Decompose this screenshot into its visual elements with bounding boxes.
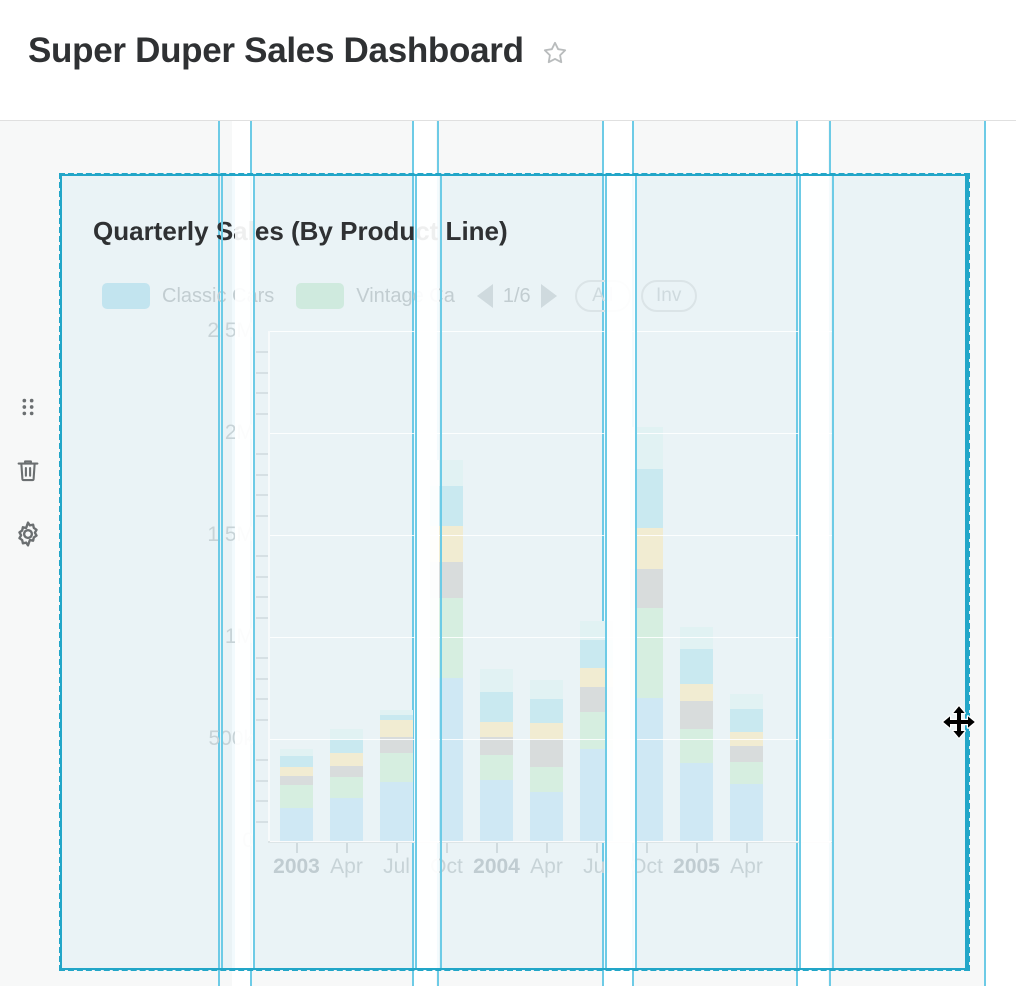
gridline (270, 637, 832, 638)
y-axis-minor-tick (256, 392, 268, 394)
move-resize-cursor (941, 704, 977, 740)
bar-stack[interactable] (530, 680, 563, 841)
x-axis-tick (296, 843, 298, 853)
x-axis-tick (346, 843, 348, 853)
bar-segment (730, 784, 763, 841)
legend-label: Vintage Ca (356, 285, 455, 308)
bar-segment (280, 808, 313, 841)
bar-stack[interactable] (730, 694, 763, 841)
x-axis-tick-label: Oct (430, 855, 463, 879)
bar-segment (730, 762, 763, 783)
y-axis-tick-label: 1.5M (207, 523, 254, 547)
bar-segment (680, 763, 713, 841)
x-axis-tick-label: Oct (630, 855, 663, 879)
y-axis-minor-tick (256, 759, 268, 761)
bar-segment (480, 669, 513, 692)
bar-stack[interactable] (430, 460, 463, 841)
gridline (270, 739, 832, 740)
dashboard-canvas[interactable]: Quarterly Sales (By Product Line) Classi… (0, 121, 1016, 986)
y-axis-minor-tick (256, 555, 268, 557)
bar-segment (580, 640, 613, 668)
bar-segment (630, 698, 663, 841)
bar-segment (730, 694, 763, 709)
bar-stack[interactable] (330, 729, 363, 841)
bar-segment (530, 767, 563, 793)
y-axis-minor-tick (256, 596, 268, 598)
x-axis-tick-label: 2005 (673, 855, 720, 879)
bar-segment (630, 469, 663, 528)
bar-segment (280, 776, 313, 785)
legend-page-count: 1/6 (503, 285, 531, 308)
x-axis-tick-label: 2003 (273, 855, 320, 879)
bar-segment (680, 701, 713, 729)
y-axis-tick-label: 1M (225, 625, 254, 649)
bar-segment (280, 756, 313, 766)
invert-selection-button[interactable]: Inv (641, 280, 697, 312)
bar-segment (530, 699, 563, 722)
legend-label: Classic Cars (162, 285, 274, 308)
bar-segment (380, 782, 413, 841)
y-axis-labels: 0500k1M1.5M2M2.5M (152, 331, 262, 841)
y-axis-minor-tick (256, 800, 268, 802)
bar-segment (480, 755, 513, 779)
y-axis-minor-tick (256, 372, 268, 374)
bar-stack[interactable] (380, 710, 413, 841)
bar-stack[interactable] (680, 627, 713, 841)
y-axis-minor-tick (256, 413, 268, 415)
x-axis-tick (696, 843, 698, 853)
bar-segment (630, 569, 663, 609)
legend-pager: 1/6 (477, 284, 557, 308)
y-axis-minor-tick (256, 678, 268, 680)
bar-segment (280, 749, 313, 756)
y-axis-tick-label: 0 (242, 829, 254, 853)
bar-segment (580, 712, 613, 749)
bar-segment (330, 766, 363, 777)
y-axis-minor-tick (256, 821, 268, 823)
bar-segment (380, 753, 413, 782)
bar-segment (730, 746, 763, 762)
bar-stack[interactable] (630, 427, 663, 841)
bar-segment (580, 749, 613, 841)
x-axis-tick (546, 843, 548, 853)
bar-segment (730, 709, 763, 731)
bar-segment (430, 562, 463, 599)
gridline (270, 841, 832, 842)
x-axis-tick (396, 843, 398, 853)
grid-guide-line (984, 121, 986, 986)
x-axis-tick-label: Jul (383, 855, 410, 879)
grid-guide-line (832, 176, 834, 968)
widget-quarterly-sales[interactable]: Quarterly Sales (By Product Line) Classi… (59, 173, 970, 971)
trash-icon[interactable] (10, 452, 46, 488)
widget-tool-rail (0, 121, 56, 986)
grid-gutter (986, 121, 1016, 986)
bar-series-container (268, 331, 832, 841)
legend-item-classic-cars[interactable]: Classic Cars (102, 283, 274, 309)
y-axis-minor-tick (256, 576, 268, 578)
star-icon[interactable] (542, 40, 568, 66)
chart-plot-area: 0500k1M1.5M2M2.5M 2003AprJulOct2004AprJu… (152, 331, 832, 891)
bar-stack[interactable] (480, 669, 513, 841)
bar-segment (680, 729, 713, 764)
chart-title: Quarterly Sales (By Product Line) (93, 216, 508, 247)
bar-segment (430, 678, 463, 841)
gridline (270, 331, 832, 332)
bar-segment (280, 785, 313, 808)
legend-item-vintage-cars[interactable]: Vintage Ca (296, 283, 455, 309)
x-axis-tick-label: Apr (530, 855, 563, 879)
bar-segment (330, 739, 363, 753)
bar-segment (430, 598, 463, 678)
bar-segment (430, 526, 463, 562)
x-axis-tick (746, 843, 748, 853)
triangle-left-icon[interactable] (477, 284, 493, 308)
bar-segment (330, 798, 363, 841)
drag-handle-icon[interactable] (10, 389, 46, 425)
y-axis-tick-label: 2.5M (207, 319, 254, 343)
select-all-button[interactable]: All (575, 280, 631, 312)
bar-segment (430, 460, 463, 487)
x-axis-tick-label: Jul (583, 855, 610, 879)
page-title: Super Duper Sales Dashboard (28, 32, 524, 71)
bar-segment (480, 692, 513, 722)
screen-root: Super Duper Sales Dashboard (0, 0, 1016, 986)
bar-segment (530, 723, 563, 739)
chart-legend-toolbar: Classic Cars Vintage Ca 1/6 All Inv (102, 281, 707, 311)
bar-segment (680, 627, 713, 649)
resize-edge-handle[interactable] (965, 176, 967, 968)
y-axis-minor-tick (256, 453, 268, 455)
x-axis-tick (596, 843, 598, 853)
legend-swatch-icon (102, 283, 150, 309)
y-axis-minor-tick (256, 657, 268, 659)
bar-segment (630, 608, 663, 698)
y-axis-minor-tick (256, 351, 268, 353)
bar-segment (330, 729, 363, 739)
y-axis-minor-tick (256, 780, 268, 782)
bar-segment (430, 486, 463, 526)
bar-segment (680, 649, 713, 684)
y-axis-tick-label: 500k (208, 727, 254, 751)
y-axis-minor-tick (256, 474, 268, 476)
y-axis-minor-tick (256, 698, 268, 700)
x-axis-tick (496, 843, 498, 853)
gridline (270, 535, 832, 536)
bar-segment (280, 767, 313, 776)
bar-segment (630, 528, 663, 569)
triangle-right-icon[interactable] (541, 284, 557, 308)
bar-stack[interactable] (280, 749, 313, 841)
y-axis-tick-label: 2M (225, 421, 254, 445)
bar-segment (580, 668, 613, 687)
bar-segment (480, 722, 513, 737)
y-axis-minor-tick (256, 719, 268, 721)
bar-segment (530, 680, 563, 699)
x-axis-tick-label: Apr (730, 855, 763, 879)
bar-segment (580, 687, 613, 713)
app-header: Super Duper Sales Dashboard (0, 0, 1016, 121)
bar-segment (530, 792, 563, 841)
legend-swatch-icon (296, 283, 344, 309)
bar-segment (680, 684, 713, 701)
y-axis-minor-tick (256, 515, 268, 517)
y-axis-minor-tick (256, 494, 268, 496)
bar-segment (480, 780, 513, 841)
bar-segment (380, 720, 413, 737)
x-axis-tick (446, 843, 448, 853)
bar-segment (330, 777, 363, 798)
x-axis-tick-label: Apr (330, 855, 363, 879)
y-axis-minor-tick (256, 617, 268, 619)
gear-icon[interactable] (10, 516, 46, 552)
x-axis-tick-label: 2004 (473, 855, 520, 879)
dashboard-title-row: Super Duper Sales Dashboard (28, 32, 568, 71)
bar-segment (530, 739, 563, 767)
bar-segment (330, 753, 363, 765)
bar-stack[interactable] (580, 621, 613, 841)
x-axis-tick (646, 843, 648, 853)
gridline (270, 433, 832, 434)
